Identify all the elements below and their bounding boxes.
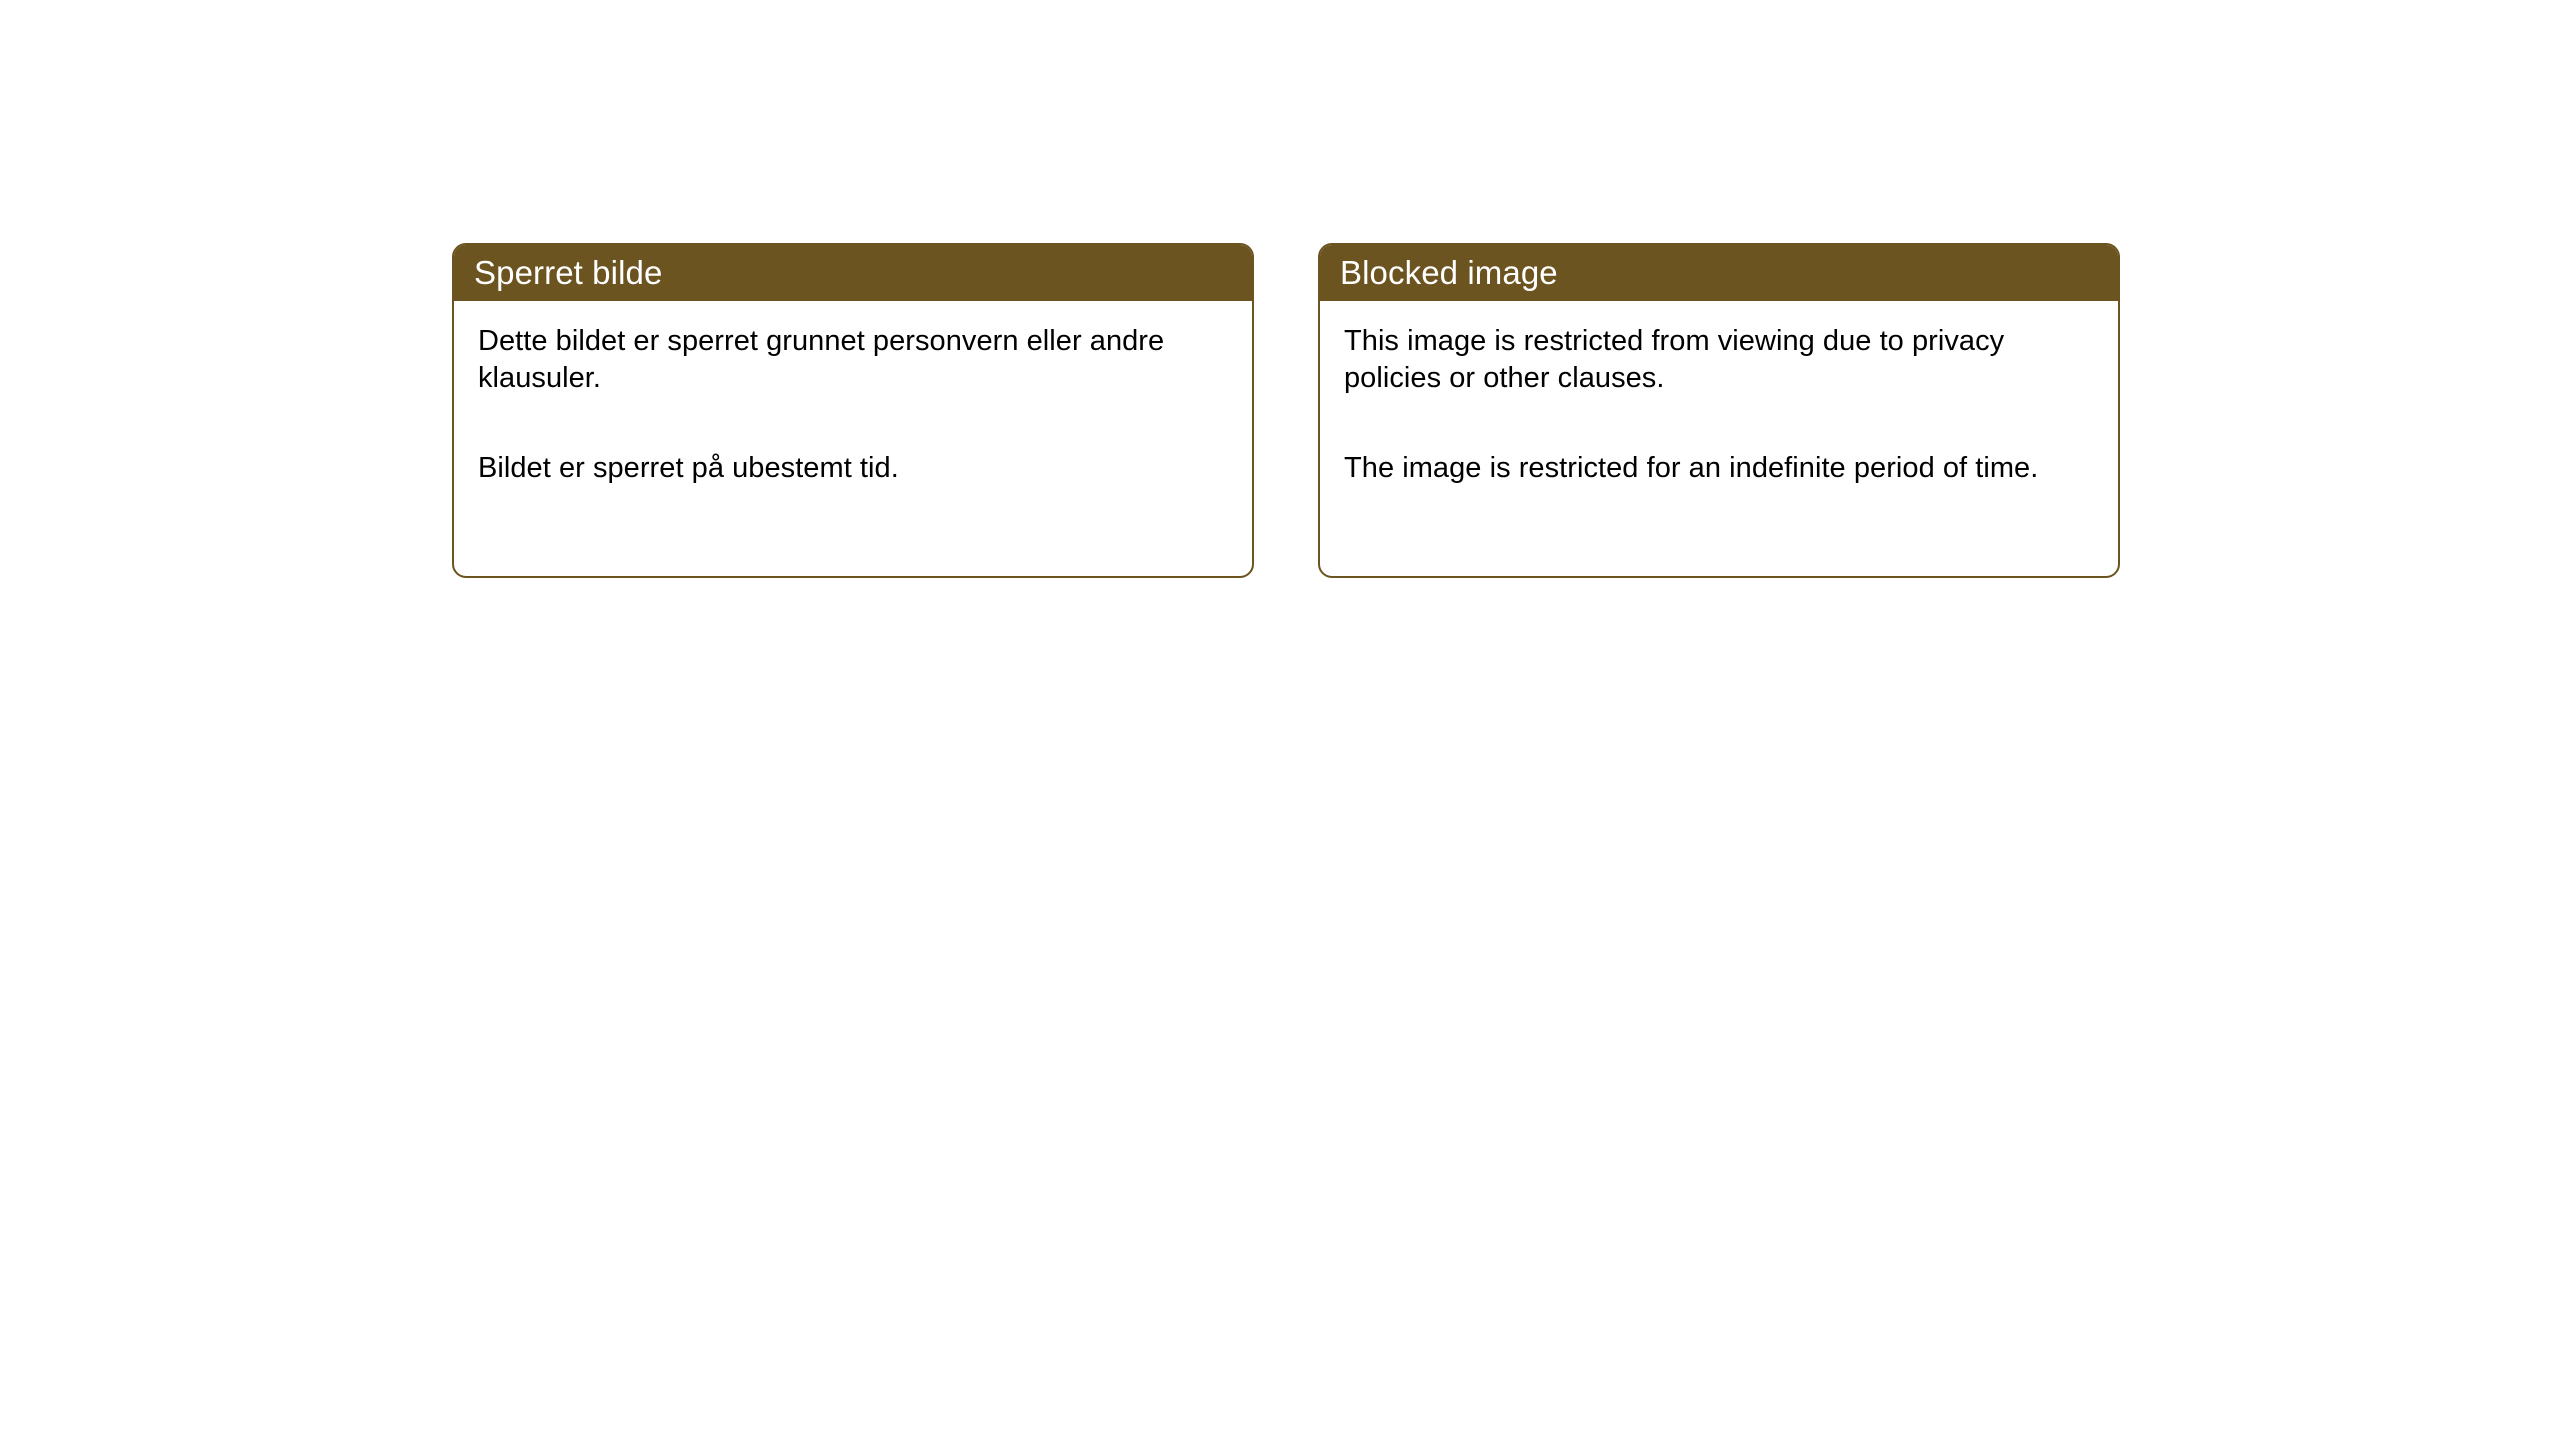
notice-paragraph-secondary-no: Bildet er sperret på ubestemt tid. xyxy=(478,450,1178,487)
card-header-en: Blocked image xyxy=(1318,243,2120,301)
card-body-no: Dette bildet er sperret grunnet personve… xyxy=(454,301,1252,511)
notice-paragraph-primary-en: This image is restricted from viewing du… xyxy=(1344,323,2094,398)
card-body-en: This image is restricted from viewing du… xyxy=(1320,301,2118,511)
notice-paragraph-primary-no: Dette bildet er sperret grunnet personve… xyxy=(478,323,1178,398)
blocked-image-notice-card-no: Sperret bilde Dette bildet er sperret gr… xyxy=(452,243,1254,578)
card-header-no: Sperret bilde xyxy=(452,243,1254,301)
blocked-image-notice-card-en: Blocked image This image is restricted f… xyxy=(1318,243,2120,578)
notice-paragraph-secondary-en: The image is restricted for an indefinit… xyxy=(1344,450,2094,487)
card-title-no: Sperret bilde xyxy=(474,256,662,289)
card-title-en: Blocked image xyxy=(1340,256,1558,289)
